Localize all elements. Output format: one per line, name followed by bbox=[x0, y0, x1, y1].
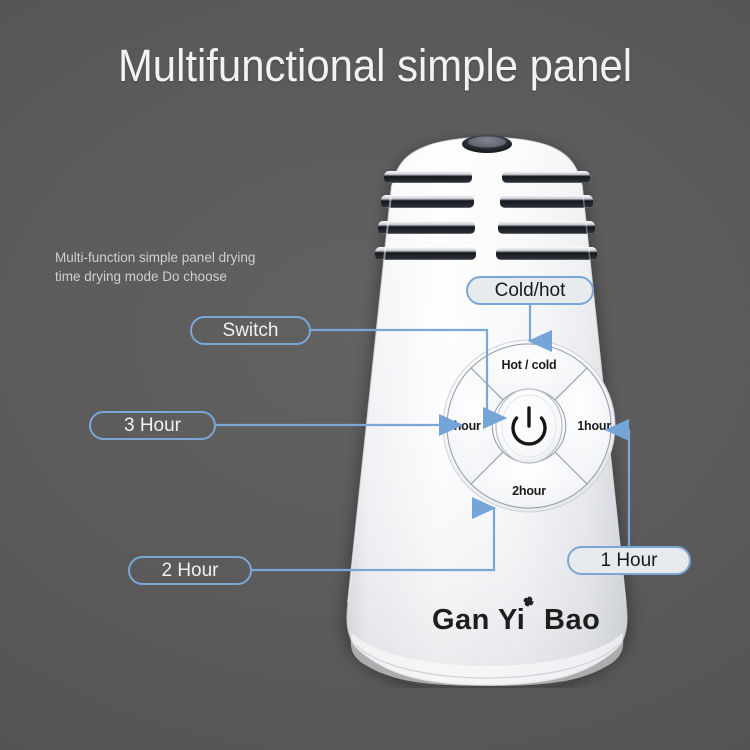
brand-text-bao: Bao bbox=[544, 604, 600, 636]
product-infographic: Multifunctional simple panel Multi-funct… bbox=[0, 0, 750, 750]
page-title: Multifunctional simple panel bbox=[26, 40, 724, 92]
brand-logo: Gan Yi Bao bbox=[432, 596, 632, 636]
callout-cold-hot[interactable]: Cold/hot bbox=[466, 276, 594, 305]
callout-2-hour-label: 2 Hour bbox=[161, 561, 218, 580]
brand-logo-graphic: Gan Yi Bao bbox=[432, 596, 632, 636]
callout-switch-label: Switch bbox=[223, 321, 279, 340]
callout-3-hour[interactable]: 3 Hour bbox=[89, 411, 216, 440]
callout-cold-hot-label: Cold/hot bbox=[495, 281, 566, 300]
callout-3-hour-label: 3 Hour bbox=[124, 416, 181, 435]
control-pad: Hot / cold 1hour 2hour 3hour bbox=[441, 338, 617, 514]
brand-text-yi: Yi bbox=[498, 604, 525, 636]
callout-2-hour[interactable]: 2 Hour bbox=[128, 556, 252, 585]
callout-switch[interactable]: Switch bbox=[190, 316, 311, 345]
brand-text-gan: Gan bbox=[432, 604, 490, 636]
3hour-button-label: 3hour bbox=[447, 419, 481, 433]
callout-1-hour[interactable]: 1 Hour bbox=[567, 546, 691, 575]
1hour-button-label: 1hour bbox=[577, 419, 611, 433]
hot-cold-button-label: Hot / cold bbox=[502, 358, 557, 372]
description-text: Multi-function simple panel drying time … bbox=[55, 248, 355, 286]
callout-1-hour-label: 1 Hour bbox=[600, 551, 657, 570]
2hour-button-label: 2hour bbox=[512, 484, 546, 498]
